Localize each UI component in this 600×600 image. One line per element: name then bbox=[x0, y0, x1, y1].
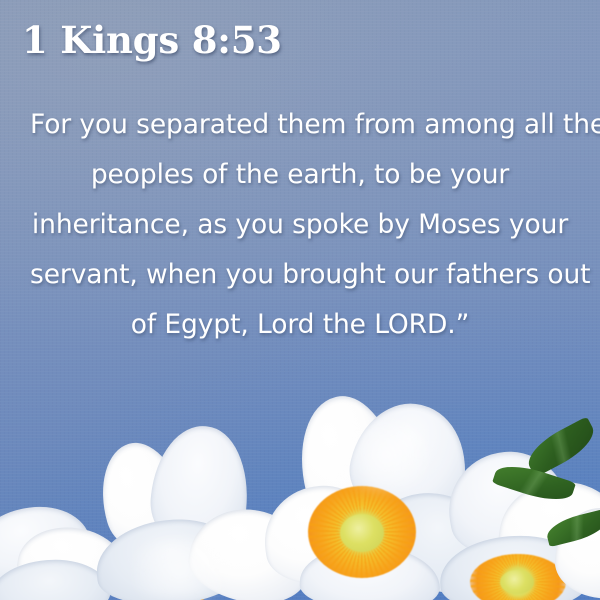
scripture-verse-card: 1 Kings 8:53 For you separated them from… bbox=[0, 0, 600, 600]
verse-line: of Egypt, Lord the LORD.” bbox=[30, 300, 570, 350]
verse-line: servant, when you brought our fathers ou… bbox=[30, 250, 570, 300]
page-title: 1 Kings 8:53 bbox=[22, 18, 282, 62]
verse-line: For you separated them from among all th… bbox=[30, 100, 570, 150]
verse-line: peoples of the earth, to be your bbox=[30, 150, 570, 200]
verse-text: For you separated them from among all th… bbox=[30, 100, 570, 350]
verse-line: inheritance, as you spoke by Moses your bbox=[30, 200, 570, 250]
